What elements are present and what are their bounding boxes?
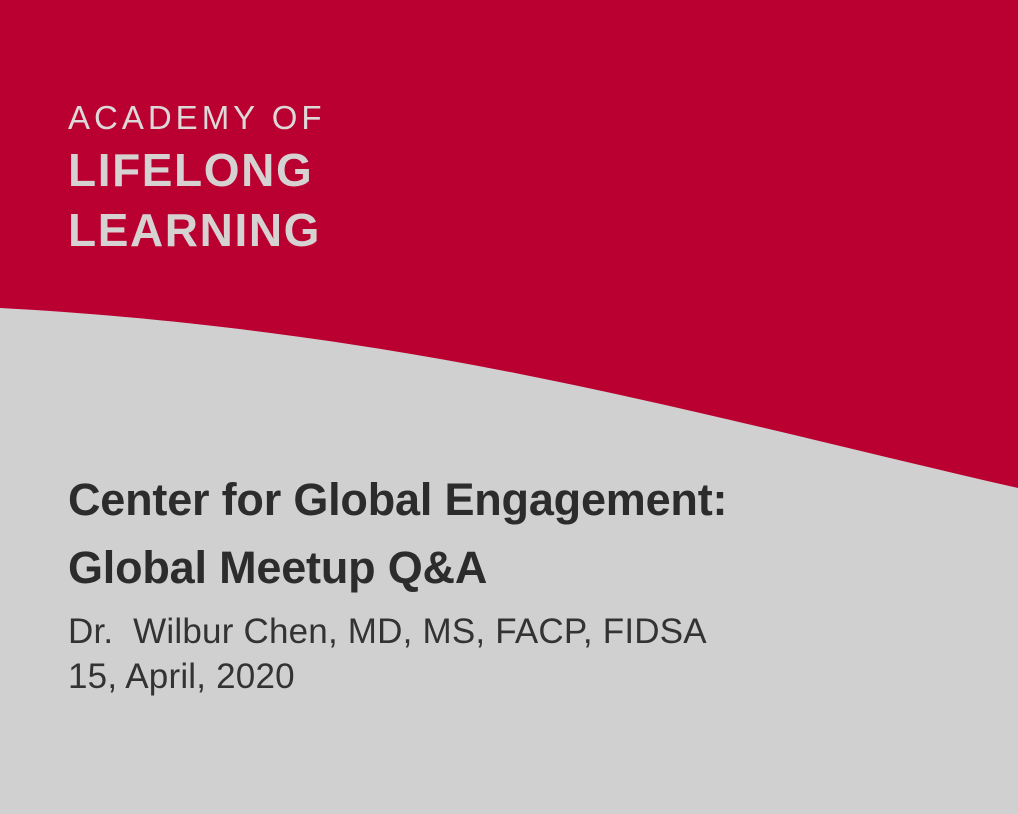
presenter-name: Dr. Wilbur Chen, MD, MS, FACP, FIDSA [68, 609, 707, 654]
logo-line-lifelong: LIFELONG [68, 140, 326, 200]
title-slide: ACADEMY OF LIFELONG LEARNING Center for … [0, 0, 1018, 814]
presentation-date: 15, April, 2020 [68, 654, 707, 699]
page-title: Center for Global Engagement: Global Mee… [68, 466, 988, 602]
logo-line-academy-of: ACADEMY OF [68, 96, 326, 140]
logo-line-learning: LEARNING [68, 200, 326, 260]
title-line-1: Center for Global Engagement: [68, 466, 988, 534]
academy-of-lifelong-learning-logo: ACADEMY OF LIFELONG LEARNING [68, 96, 326, 260]
title-line-2: Global Meetup Q&A [68, 534, 988, 602]
presentation-meta: Dr. Wilbur Chen, MD, MS, FACP, FIDSA 15,… [68, 609, 707, 699]
